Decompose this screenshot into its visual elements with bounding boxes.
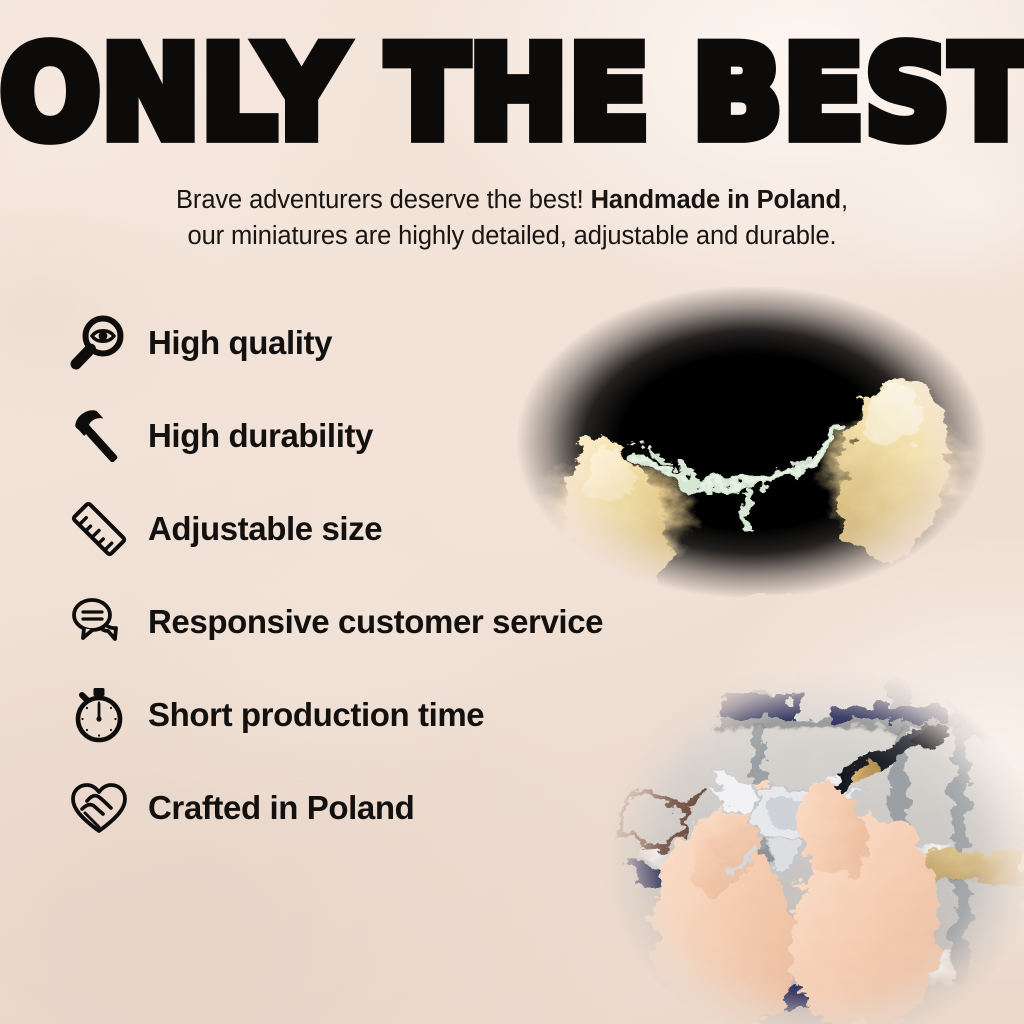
subtitle-highlight: Handmade in Poland (591, 186, 841, 214)
subtitle: Brave adventurers deserve the best! Hand… (82, 182, 942, 254)
feature-item: Responsive customer service (68, 585, 768, 659)
feature-label: Crafted in Poland (148, 789, 414, 827)
feature-label: High quality (148, 324, 332, 362)
feature-label: Responsive customer service (148, 603, 603, 641)
subtitle-line2: our miniatures are highly detailed, adju… (187, 222, 836, 250)
feature-item: Adjustable size (68, 492, 768, 566)
feature-list: High quality High durability (68, 306, 768, 864)
feature-item: Crafted in Poland (68, 771, 768, 845)
feature-label: Short production time (148, 696, 484, 734)
feature-item: High durability (68, 399, 768, 473)
feature-item: Short production time (68, 678, 768, 752)
headline: ONLY THE BEST (0, 34, 1024, 152)
subtitle-line1-post: , (841, 186, 848, 214)
hammer-icon (68, 405, 130, 467)
page-title: ONLY THE BEST (0, 30, 1024, 156)
stopwatch-icon (68, 684, 130, 746)
feature-item: High quality (68, 306, 768, 380)
feature-label: Adjustable size (148, 510, 382, 548)
promo-graphic: ONLY THE BEST Brave adventurers deserve … (0, 0, 1024, 1024)
speech-bubbles-icon (68, 591, 130, 653)
feature-label: High durability (148, 417, 373, 455)
subtitle-line1-pre: Brave adventurers deserve the best! (176, 186, 591, 214)
heart-handshake-icon (68, 777, 130, 839)
ruler-icon (68, 498, 130, 560)
magnifier-eye-icon (68, 312, 130, 374)
